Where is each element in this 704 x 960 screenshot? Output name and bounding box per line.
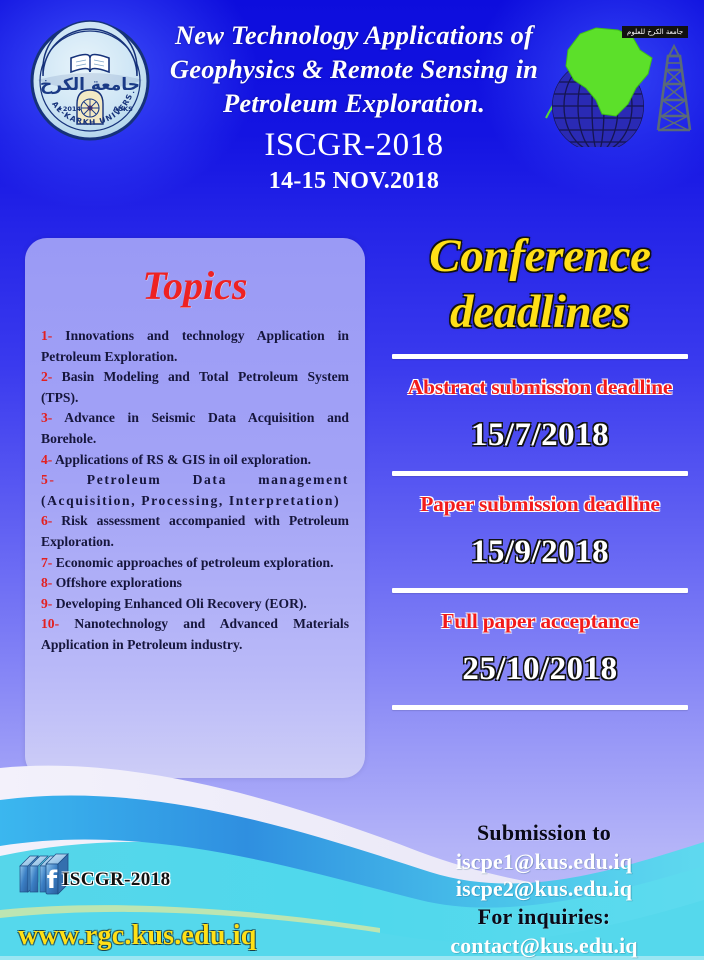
submission-email-2[interactable]: iscpe2@kus.edu.iq xyxy=(394,875,694,902)
topic-text: Applications of RS & GIS in oil explorat… xyxy=(52,452,311,467)
topic-text: Developing Enhanced Oli Recovery (EOR). xyxy=(52,596,307,611)
svg-text:AUKS: AUKS xyxy=(113,105,133,113)
topic-item: 4- Applications of RS & GIS in oil explo… xyxy=(41,450,349,471)
divider xyxy=(392,705,688,710)
topic-item: 2- Basin Modeling and Total Petroleum Sy… xyxy=(41,367,349,408)
deadline-label: Abstract submission deadline xyxy=(380,373,700,401)
university-seal-icon: جامعة الكرخ AL-KARKH UNIVERS xyxy=(27,18,153,144)
deadline-date: 25/10/2018 xyxy=(380,647,700,691)
deadline-date: 15/7/2018 xyxy=(380,413,700,457)
divider xyxy=(392,471,688,476)
topic-item: 9- Developing Enhanced Oli Recovery (EOR… xyxy=(41,594,349,615)
title-line-3: Petroleum Exploration. xyxy=(158,86,550,120)
topic-item: 8- Offshore explorations xyxy=(41,573,349,594)
deadline-entries: Abstract submission deadline15/7/2018Pap… xyxy=(380,354,700,710)
title-line-2: Geophysics & Remote Sensing in xyxy=(158,52,550,86)
svg-text:f: f xyxy=(47,866,58,894)
globe-iraq-derrick-icon xyxy=(540,22,700,147)
topic-item: 7- Economic approaches of petroleum expl… xyxy=(41,553,349,574)
inquiries-label: For inquiries: xyxy=(394,902,694,932)
topic-number: 4- xyxy=(41,452,52,467)
topic-number: 5- xyxy=(41,472,56,487)
topic-item: 6- Risk assessment accompanied with Petr… xyxy=(41,511,349,552)
deadline-label: Paper submission deadline xyxy=(380,490,700,518)
conference-poster: جامعة الكرخ AL-KARKH UNIVERS xyxy=(0,0,704,960)
topic-item: 10- Nanotechnology and Advanced Material… xyxy=(41,614,349,655)
website-url[interactable]: www.rgc.kus.edu.iq xyxy=(18,920,257,952)
deadline-label: Full paper acceptance xyxy=(380,607,700,635)
topic-text: Offshore explorations xyxy=(52,575,182,590)
topic-text: Risk assessment accompanied with Petrole… xyxy=(41,513,349,549)
topics-panel: Topics 1- Innovations and technology App… xyxy=(25,238,365,778)
divider xyxy=(392,588,688,593)
topic-number: 7- xyxy=(41,555,52,570)
topic-item: 5- Petroleum Data management (Acquisitio… xyxy=(41,470,349,511)
topic-number: 2- xyxy=(41,369,52,384)
divider xyxy=(392,354,688,359)
topic-number: 8- xyxy=(41,575,52,590)
deadlines-heading-line-2: deadlines xyxy=(380,284,700,340)
topics-heading: Topics xyxy=(41,258,349,314)
submission-label: Submission to xyxy=(394,818,694,848)
topic-number: 10- xyxy=(41,616,59,631)
topics-list: 1- Innovations and technology Applicatio… xyxy=(41,326,349,656)
title-line-1: New Technology Applications of xyxy=(158,18,550,52)
facebook-page-label[interactable]: ISCGR-2018 xyxy=(62,869,171,891)
svg-text:★2014: ★2014 xyxy=(57,105,81,113)
page-title: New Technology Applications of Geophysic… xyxy=(158,18,550,196)
poster-header: جامعة الكرخ AL-KARKH UNIVERS xyxy=(0,0,704,212)
conference-date: 14-15 NOV.2018 xyxy=(158,166,550,196)
topic-item: 1- Innovations and technology Applicatio… xyxy=(41,326,349,367)
topic-number: 3- xyxy=(41,410,52,425)
deadline-date: 15/9/2018 xyxy=(380,530,700,574)
topic-text: Petroleum Data management (Acquisition, … xyxy=(41,472,349,508)
university-arabic-label: جامعة الكرخ للعلوم xyxy=(622,26,688,38)
contact-email[interactable]: contact@kus.edu.iq xyxy=(394,932,694,959)
conference-code: ISCGR-2018 xyxy=(158,124,550,166)
topic-number: 9- xyxy=(41,596,52,611)
topic-text: Innovations and technology Application i… xyxy=(41,328,349,364)
submission-email-1[interactable]: iscpe1@kus.edu.iq xyxy=(394,848,694,875)
topic-number: 1- xyxy=(41,328,52,343)
topic-text: Nanotechnology and Advanced Materials Ap… xyxy=(41,616,349,652)
topic-text: Economic approaches of petroleum explora… xyxy=(52,555,333,570)
contact-block: Submission to iscpe1@kus.edu.iq iscpe2@k… xyxy=(394,818,694,959)
deadlines-heading-line-1: Conference xyxy=(380,228,700,284)
deadlines-section: Conference deadlines Abstract submission… xyxy=(380,228,700,788)
topic-text: Basin Modeling and Total Petroleum Syste… xyxy=(41,369,349,405)
topic-item: 3- Advance in Seismic Data Acquisition a… xyxy=(41,408,349,449)
topic-number: 6- xyxy=(41,513,52,528)
topic-text: Advance in Seismic Data Acquisition and … xyxy=(41,410,349,446)
